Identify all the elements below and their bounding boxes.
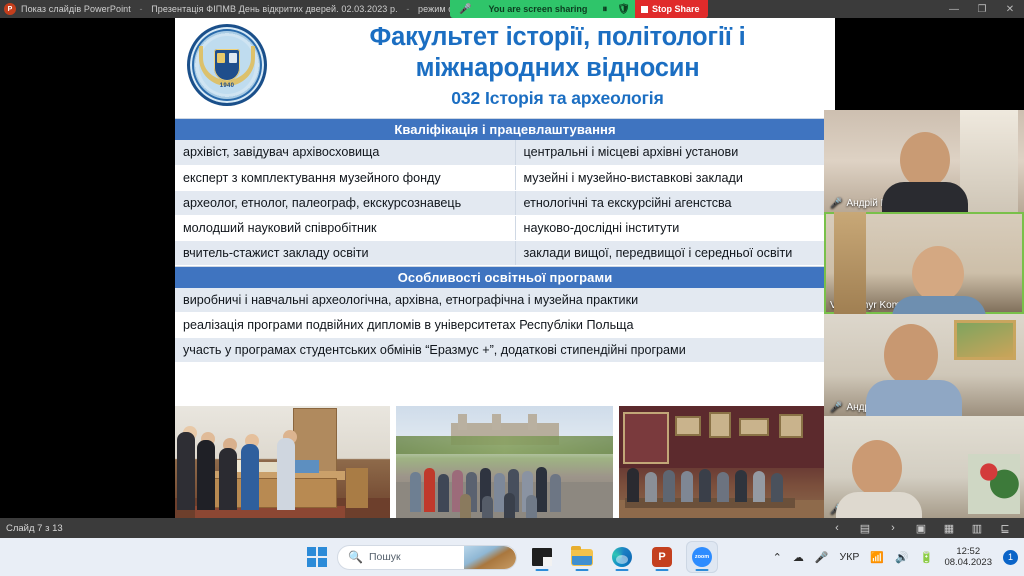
table-row: реалізація програми подвійних дипломів в… (175, 313, 835, 338)
clock-date: 08.04.2023 (944, 557, 992, 568)
slide-title-line-2: міжнародних відносин (285, 53, 830, 84)
feature-cell: реалізація програми подвійних дипломів в… (175, 313, 835, 338)
file-explorer-icon (571, 549, 593, 566)
employment-cell: заклади вищої, передвищої і середньої ос… (515, 240, 835, 265)
notification-badge[interactable]: 1 (1003, 550, 1018, 565)
search-icon: 🔍 (348, 550, 363, 564)
taskbar-zoom[interactable]: zoom (687, 542, 717, 572)
windows-taskbar: 🔍 Пошук P zoom ⌃ ☁ 🎤 УКР 📶 🔊 🔋 12:52 08.… (0, 538, 1024, 576)
powerpoint-status-bar: Слайд 7 з 13 ‹ ▤ › ▣ ▦ ▥ ⊑ (0, 518, 1024, 538)
battery-icon[interactable]: 🔋 (920, 551, 934, 564)
qualification-cell: археолог, етнолог, палеограф, екскурсозн… (175, 190, 515, 215)
university-seal-logo: 1940 (187, 24, 267, 106)
qualification-table-body: архівіст, завідувач архівосховища центра… (175, 140, 835, 265)
program-features-table-body: виробничі і навчальні археологічна, архі… (175, 288, 835, 363)
screen-sharing-banner: 🎤 You are screen sharing ⏸ 🛡 Stop Share (450, 0, 708, 18)
participant-tile[interactable]: Volodymyr Komar (824, 212, 1024, 314)
stop-square-icon (641, 6, 648, 13)
minimize-button[interactable]: — (940, 0, 968, 18)
stop-share-label: Stop Share (652, 4, 700, 14)
next-slide-button[interactable]: › (880, 518, 906, 538)
table-row: археолог, етнолог, палеограф, екскурсозн… (175, 190, 835, 215)
qualification-cell: молодший науковий співробітник (175, 215, 515, 240)
employment-cell: центральні і місцеві архівні установи (515, 140, 835, 165)
table-row: виробничі і навчальні археологічна, архі… (175, 288, 835, 313)
search-thumbnail-image (464, 546, 516, 570)
presenter-view-button[interactable]: ▣ (908, 518, 934, 538)
title-part-1: Показ слайдів PowerPoint (21, 4, 131, 14)
program-features-table: виробничі і навчальні археологічна, архі… (175, 288, 835, 364)
program-features-section-header: Особливості освітньої програми (175, 266, 835, 288)
volume-icon[interactable]: 🔊 (895, 551, 909, 564)
participant-tile[interactable]: 🎤 Андрій Міщук (824, 110, 1024, 212)
taskbar-powerpoint[interactable]: P (647, 542, 677, 572)
sharing-status-label: You are screen sharing (478, 4, 597, 14)
microphone-icon[interactable]: 🎤 (815, 551, 829, 564)
title-separator-2: - (400, 4, 415, 14)
shield-icon[interactable]: 🛡 (612, 4, 635, 15)
qualification-table: архівіст, завідувач архівосховища центра… (175, 140, 835, 266)
wifi-icon[interactable]: 📶 (870, 551, 884, 564)
all-slides-button[interactable]: ▦ (936, 518, 962, 538)
slide-subtitle: 032 Історія та археологія (285, 88, 830, 109)
system-tray: ⌃ ☁ 🎤 УКР 📶 🔊 🔋 12:52 08.04.2023 1 (773, 546, 1018, 569)
table-row: молодший науковий співробітник науково-д… (175, 215, 835, 240)
employment-cell: науково-дослідні інститути (515, 215, 835, 240)
mic-muted-icon[interactable]: 🎤 (450, 4, 478, 15)
language-indicator[interactable]: УКР (840, 551, 860, 563)
tray-overflow-chevron-icon[interactable]: ⌃ (773, 551, 782, 564)
taskbar-center-group: 🔍 Пошук P zoom (307, 542, 717, 572)
notepad-icon (532, 548, 552, 566)
clock[interactable]: 12:52 08.04.2023 (944, 546, 992, 569)
slideshow-toolbar: ‹ ▤ › ▣ ▦ ▥ ⊑ (824, 518, 1024, 538)
slide-title-block: Факультет історії, політології і міжнаро… (285, 22, 830, 109)
employment-cell: музейні і музейно-виставкові заклади (515, 165, 835, 190)
taskbar-file-explorer[interactable] (567, 542, 597, 572)
mic-muted-icon: 🎤 (830, 198, 842, 209)
seal-year-label: 1940 (199, 83, 255, 89)
window-controls: — ❐ ✕ (940, 0, 1024, 18)
maximize-button[interactable]: ❐ (968, 0, 996, 18)
feature-cell: участь у програмах студентських обмінів … (175, 338, 835, 363)
title-separator-1: - (134, 4, 149, 14)
edge-icon (612, 547, 632, 567)
powerpoint-icon: P (652, 547, 672, 567)
taskbar-edge[interactable] (607, 542, 637, 572)
zoom-participant-filmstrip[interactable]: 🎤 Андрій Міщук Volodymyr Komar 🎤 Андрій … (824, 110, 1024, 520)
feature-cell: виробничі і навчальні археологічна, архі… (175, 288, 835, 313)
zoom-icon: zoom (692, 547, 712, 567)
title-part-3: режим с (418, 4, 453, 14)
search-input[interactable]: 🔍 Пошук (337, 545, 517, 570)
qualification-cell: вчитель-стажист закладу освіти (175, 240, 515, 265)
presentation-slide[interactable]: 1940 Факультет історії, політології і мі… (175, 18, 835, 520)
table-row: архівіст, завідувач архівосховища центра… (175, 140, 835, 165)
qualification-cell: архівіст, завідувач архівосховища (175, 140, 515, 165)
table-row: участь у програмах студентських обмінів … (175, 338, 835, 363)
table-row: вчитель-стажист закладу освіти заклади в… (175, 240, 835, 265)
pen-tools-button[interactable]: ▤ (852, 518, 878, 538)
more-options-button[interactable]: ⊑ (992, 518, 1018, 538)
qualification-cell: експерт з комплектування музейного фонду (175, 165, 515, 190)
photo-group-castle (396, 406, 613, 520)
pause-share-icon[interactable]: ⏸ (597, 4, 612, 15)
onedrive-cloud-icon[interactable]: ☁ (793, 551, 804, 564)
search-placeholder: Пошук (369, 551, 401, 563)
stop-share-button[interactable]: Stop Share (635, 0, 708, 18)
powerpoint-icon: P (4, 3, 16, 15)
table-row: експерт з комплектування музейного фонду… (175, 165, 835, 190)
start-button[interactable] (307, 547, 327, 567)
participant-tile[interactable]: 🎤 Igor Raikivskyi (824, 416, 1024, 518)
qualification-section-header: Кваліфікація і працевлаштування (175, 118, 835, 140)
zoom-slide-button[interactable]: ▥ (964, 518, 990, 538)
title-part-2: Презентація ФІПМВ День відкритих дверей.… (151, 4, 398, 14)
photo-archive-practice (175, 406, 390, 520)
slide-counter: Слайд 7 з 13 (0, 523, 63, 534)
employment-cell: етнологічні та екскурсійні агенстсва (515, 190, 835, 215)
mic-muted-icon: 🎤 (830, 402, 842, 413)
close-button[interactable]: ✕ (996, 0, 1024, 18)
slide-title-line-1: Факультет історії, політології і (285, 22, 830, 53)
title-bar-text: Показ слайдів PowerPoint - Презентація Ф… (21, 4, 453, 14)
participant-tile[interactable]: 🎤 Андрій Королько (824, 314, 1024, 416)
prev-slide-button[interactable]: ‹ (824, 518, 850, 538)
clock-time: 12:52 (944, 546, 992, 557)
taskbar-notepad[interactable] (527, 542, 557, 572)
slide-header: 1940 Факультет історії, політології і мі… (175, 18, 835, 118)
slide-photo-strip (175, 403, 835, 520)
photo-museum-hall (619, 406, 829, 520)
